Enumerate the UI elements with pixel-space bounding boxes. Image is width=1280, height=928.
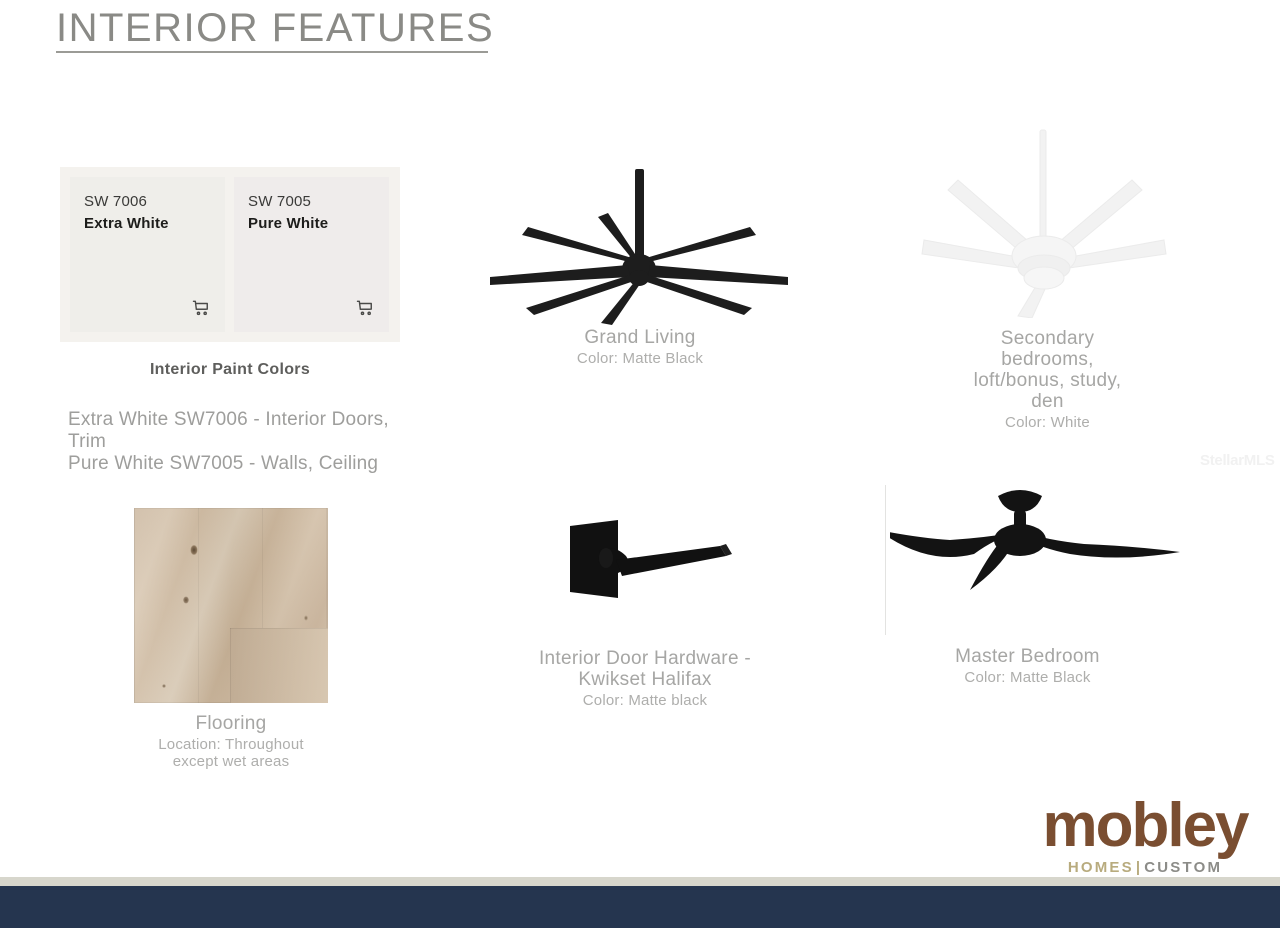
shopping-cart-icon[interactable] (355, 298, 375, 318)
paint-desc-line-2: Trim (68, 431, 468, 453)
swatch-code: SW 7005 (248, 191, 375, 213)
flooring-caption: Flooring Location: Throughout except wet… (84, 713, 378, 770)
ceiling-fan-5-blade-white-icon (900, 128, 1190, 323)
wood-flooring-sample (134, 508, 328, 703)
paint-desc-line-3: Pure White SW7005 - Walls, Ceiling (68, 453, 468, 475)
secondary-rooms-caption: Secondary bedrooms, loft/bonus, study, d… (930, 328, 1165, 431)
master-bedroom-title: Master Bedroom (925, 646, 1130, 667)
master-bedroom-subtitle: Color: Matte Black (925, 669, 1130, 686)
grand-living-subtitle: Color: Matte Black (530, 350, 750, 367)
mls-watermark: StellarMLS (1200, 452, 1275, 469)
door-hardware-title-line-2: Kwikset Halifax (495, 669, 795, 690)
logo-tagline: HOMES|CUSTOM (1030, 859, 1260, 876)
secondary-title-line-3: loft/bonus, study, (930, 370, 1165, 391)
swatch-name: Pure White (248, 213, 375, 236)
door-hardware-subtitle: Color: Matte black (495, 692, 795, 709)
logo-wordmark: mobley (1030, 795, 1260, 857)
door-hardware-title-line-1: Interior Door Hardware - (495, 648, 795, 669)
slide-canvas: INTERIOR FEATURES SW 7006 Extra White SW… (0, 0, 1280, 928)
flooring-sub-line-2: except wet areas (84, 753, 378, 770)
logo-separator: | (1134, 859, 1144, 876)
paint-colors-heading: Interior Paint Colors (60, 361, 400, 379)
door-lever-handle-black-icon (500, 500, 790, 625)
door-hardware-caption: Interior Door Hardware - Kwikset Halifax… (495, 648, 795, 709)
paint-colors-description: Extra White SW7006 - Interior Doors, Tri… (68, 409, 468, 475)
secondary-title-line-4: den (930, 391, 1165, 412)
paint-swatch-card: SW 7006 Extra White SW 7005 Pure White (60, 167, 400, 342)
grand-living-title: Grand Living (530, 327, 750, 348)
paint-desc-line-1: Extra White SW7006 - Interior Doors, (68, 409, 468, 431)
logo-custom-text: CUSTOM (1144, 859, 1222, 876)
flooring-sub-line-1: Location: Throughout (84, 736, 378, 753)
title-underline (56, 51, 488, 53)
shopping-cart-icon[interactable] (191, 298, 211, 318)
logo-homes-text: HOMES (1068, 859, 1134, 876)
ceiling-fan-3-blade-black-icon (890, 480, 1180, 635)
paint-swatch-extra-white[interactable]: SW 7006 Extra White (70, 177, 225, 332)
flooring-title: Flooring (84, 713, 378, 734)
secondary-title-line-1: Secondary (930, 328, 1165, 349)
master-bedroom-caption: Master Bedroom Color: Matte Black (925, 646, 1130, 686)
column-divider (885, 485, 886, 635)
footer-accent-strip (0, 877, 1280, 886)
paint-swatch-pure-white[interactable]: SW 7005 Pure White (234, 177, 389, 332)
secondary-subtitle: Color: White (930, 414, 1165, 431)
grand-living-caption: Grand Living Color: Matte Black (530, 327, 750, 367)
footer-bar (0, 886, 1280, 928)
swatch-code: SW 7006 (84, 191, 211, 213)
swatch-name: Extra White (84, 213, 211, 236)
secondary-title-line-2: bedrooms, (930, 349, 1165, 370)
page-title: INTERIOR FEATURES (56, 6, 494, 51)
ceiling-fan-8-blade-black-icon (470, 165, 810, 330)
mobley-logo: mobley HOMES|CUSTOM (1030, 795, 1260, 876)
